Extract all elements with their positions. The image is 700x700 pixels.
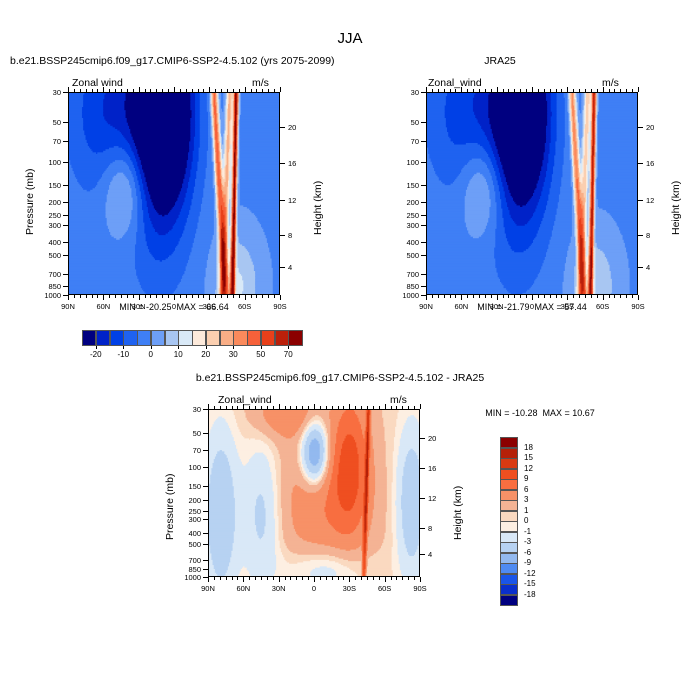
- pressure-tick-label-1000: 1000: [28, 291, 61, 300]
- colorbar-diff-segment-7: [500, 511, 518, 522]
- latitude-tick-mark-top: [133, 89, 134, 92]
- latitude-tick-label-60S: 60S: [369, 584, 401, 593]
- pressure-tick-label-250: 250: [168, 507, 201, 516]
- latitude-tick-label-90S: 90S: [264, 302, 296, 311]
- latitude-tick-mark-top: [561, 89, 562, 92]
- colorbar-diff-segment-0: [500, 437, 518, 448]
- colorbar-main-tick: [96, 346, 97, 349]
- latitude-tick-mark-top: [209, 87, 210, 92]
- latitude-tick-mark: [579, 295, 580, 298]
- height-tick-mark: [638, 163, 643, 164]
- pressure-tick-mark: [63, 286, 68, 287]
- latitude-tick-mark: [233, 295, 234, 298]
- latitude-tick-mark: [268, 295, 269, 298]
- pressure-tick-mark: [203, 569, 208, 570]
- pressure-tick-mark: [421, 215, 426, 216]
- pressure-tick-label-150: 150: [386, 181, 419, 190]
- latitude-tick-mark-top: [385, 404, 386, 409]
- latitude-tick-mark: [314, 577, 315, 582]
- colorbar-main-tick: [178, 346, 179, 349]
- latitude-tick-mark-top: [279, 404, 280, 409]
- pressure-tick-mark: [421, 274, 426, 275]
- pressure-tick-label-100: 100: [168, 463, 201, 472]
- pressure-tick-mark: [63, 255, 68, 256]
- pressure-tick-mark: [421, 141, 426, 142]
- latitude-tick-mark: [408, 577, 409, 580]
- colorbar-diff-segment-8: [500, 521, 518, 532]
- latitude-tick-mark-top: [180, 89, 181, 92]
- latitude-tick-mark: [251, 295, 252, 298]
- latitude-tick-mark-top: [520, 89, 521, 92]
- latitude-tick-mark-top: [556, 89, 557, 92]
- latitude-tick-mark-top: [550, 89, 551, 92]
- latitude-tick-mark: [308, 577, 309, 580]
- latitude-tick-mark: [115, 295, 116, 298]
- pressure-tick-label-400: 400: [168, 529, 201, 538]
- latitude-tick-label-30N: 30N: [263, 584, 295, 593]
- latitude-tick-mark: [556, 295, 557, 298]
- latitude-tick-mark: [174, 295, 175, 300]
- pressure-tick-mark: [203, 433, 208, 434]
- latitude-tick-mark-top: [467, 89, 468, 92]
- latitude-tick-mark: [385, 577, 386, 582]
- latitude-tick-mark-top: [367, 406, 368, 409]
- latitude-tick-mark-top: [274, 89, 275, 92]
- colorbar-diff-segment-15: [500, 595, 518, 606]
- latitude-tick-mark-top: [432, 89, 433, 92]
- latitude-tick-mark: [538, 295, 539, 298]
- latitude-tick-mark: [438, 295, 439, 298]
- latitude-tick-mark-top: [585, 89, 586, 92]
- latitude-tick-mark-top: [198, 89, 199, 92]
- colorbar-main-tick: [288, 346, 289, 349]
- latitude-tick-mark-top: [620, 89, 621, 92]
- height-tick-mark: [420, 528, 425, 529]
- latitude-tick-mark-top: [473, 89, 474, 92]
- pressure-tick-label-500: 500: [168, 540, 201, 549]
- colorbar-diff-label-neg12: -12: [524, 569, 550, 578]
- latitude-tick-mark: [68, 295, 69, 300]
- height-tick-mark: [280, 163, 285, 164]
- latitude-tick-mark: [296, 577, 297, 580]
- latitude-tick-mark: [550, 295, 551, 298]
- colorbar-diff[interactable]: 18151296310-1-3-6-9-12-15-18: [500, 437, 560, 605]
- colorbar-diff-label-neg18: -18: [524, 590, 550, 599]
- latitude-tick-mark-top: [255, 406, 256, 409]
- latitude-tick-mark: [97, 295, 98, 298]
- latitude-tick-mark: [614, 295, 615, 298]
- latitude-tick-mark-top: [186, 89, 187, 92]
- latitude-tick-mark-top: [438, 89, 439, 92]
- pressure-tick-label-700: 700: [386, 270, 419, 279]
- pressure-tick-label-500: 500: [386, 251, 419, 260]
- latitude-tick-mark-top: [343, 406, 344, 409]
- latitude-tick-mark: [290, 577, 291, 580]
- colorbar-diff-segment-1: [500, 448, 518, 459]
- latitude-tick-mark: [226, 577, 227, 580]
- latitude-tick-label-30S: 30S: [551, 302, 583, 311]
- pressure-tick-mark: [63, 122, 68, 123]
- latitude-tick-mark-top: [92, 89, 93, 92]
- latitude-tick-mark: [497, 295, 498, 300]
- pressure-tick-mark: [203, 450, 208, 451]
- height-tick-label-4: 4: [646, 263, 670, 272]
- latitude-tick-mark: [355, 577, 356, 580]
- colorbar-main-segment-14: [275, 330, 289, 346]
- colorbar-diff-segment-5: [500, 490, 518, 501]
- pressure-tick-label-50: 50: [168, 429, 201, 438]
- latitude-tick-mark: [444, 295, 445, 298]
- panel-obs-title: JRA25: [350, 55, 650, 67]
- latitude-tick-mark: [326, 577, 327, 580]
- colorbar-main-segment-12: [247, 330, 261, 346]
- pressure-tick-mark: [203, 560, 208, 561]
- latitude-tick-mark: [338, 577, 339, 580]
- height-tick-label-4: 4: [428, 550, 452, 559]
- latitude-tick-mark: [273, 577, 274, 580]
- latitude-tick-mark: [503, 295, 504, 298]
- latitude-tick-mark-top: [320, 406, 321, 409]
- latitude-tick-mark-top: [355, 406, 356, 409]
- latitude-tick-label-60N: 60N: [227, 584, 259, 593]
- latitude-tick-mark-top: [396, 406, 397, 409]
- latitude-tick-label-30S: 30S: [193, 302, 225, 311]
- panel-obs-variable-label: Zonal_wind: [428, 77, 482, 89]
- panel-model-plot-area[interactable]: [68, 92, 280, 295]
- latitude-tick-mark-top: [245, 87, 246, 92]
- colorbar-main-tick: [261, 346, 262, 349]
- latitude-tick-mark-top: [139, 87, 140, 92]
- latitude-tick-mark: [514, 295, 515, 298]
- latitude-tick-mark-top: [308, 406, 309, 409]
- latitude-tick-mark-top: [402, 406, 403, 409]
- latitude-tick-mark: [203, 295, 204, 298]
- latitude-tick-mark: [162, 295, 163, 298]
- panel-obs-plot-area[interactable]: [426, 92, 638, 295]
- height-tick-label-12: 12: [288, 196, 312, 205]
- latitude-tick-mark-top: [538, 89, 539, 92]
- panel-model-variable-label: Zonal wind: [72, 77, 123, 89]
- height-tick-label-20: 20: [288, 123, 312, 132]
- panel-model-y2axis-label: Height (km): [312, 181, 324, 235]
- colorbar-diff-segment-11: [500, 553, 518, 564]
- colorbar-main-segment-15: [288, 330, 302, 346]
- colorbar-main-tick: [151, 346, 152, 349]
- latitude-tick-mark: [92, 295, 93, 298]
- latitude-tick-mark-top: [280, 87, 281, 92]
- latitude-tick-mark: [343, 577, 344, 580]
- height-tick-mark: [420, 438, 425, 439]
- latitude-tick-mark: [373, 577, 374, 580]
- latitude-tick-mark-top: [332, 406, 333, 409]
- latitude-tick-mark: [208, 577, 209, 582]
- latitude-tick-mark: [232, 577, 233, 580]
- latitude-tick-mark: [367, 577, 368, 580]
- colorbar-main-segment-8: [192, 330, 206, 346]
- latitude-tick-mark: [420, 577, 421, 582]
- latitude-tick-mark-top: [391, 406, 392, 409]
- colorbar-diff-label-6: 6: [524, 485, 550, 494]
- pressure-tick-label-850: 850: [28, 282, 61, 291]
- latitude-tick-mark: [426, 295, 427, 300]
- colorbar-diff-label-neg3: -3: [524, 537, 550, 546]
- pressure-tick-label-1000: 1000: [168, 573, 201, 582]
- pressure-tick-label-30: 30: [28, 88, 61, 97]
- pressure-tick-mark: [203, 486, 208, 487]
- colorbar-main-segment-3: [123, 330, 137, 346]
- diff-contour-field: [209, 410, 420, 577]
- colorbar-diff-label-neg9: -9: [524, 558, 550, 567]
- colorbar-main-segment-1: [96, 330, 110, 346]
- panel-obs-units-label: m/s: [602, 77, 619, 89]
- pressure-tick-mark: [421, 92, 426, 93]
- latitude-tick-mark: [396, 577, 397, 580]
- latitude-tick-mark-top: [203, 89, 204, 92]
- latitude-tick-mark-top: [221, 89, 222, 92]
- latitude-tick-mark-top: [97, 89, 98, 92]
- colorbar-main-segment-10: [220, 330, 234, 346]
- pressure-tick-label-100: 100: [28, 158, 61, 167]
- pressure-tick-mark: [63, 274, 68, 275]
- latitude-tick-mark: [450, 295, 451, 298]
- colorbar-diff-segment-6: [500, 500, 518, 511]
- pressure-tick-label-30: 30: [386, 88, 419, 97]
- latitude-tick-mark-top: [251, 89, 252, 92]
- latitude-tick-mark-top: [103, 87, 104, 92]
- colorbar-main-segment-6: [165, 330, 179, 346]
- panel-obs: JRA25 Zonal_wind m/s Height (km) MIN = -…: [350, 50, 700, 330]
- latitude-tick-mark-top: [145, 89, 146, 92]
- latitude-tick-mark: [214, 577, 215, 580]
- latitude-tick-mark-top: [220, 406, 221, 409]
- latitude-tick-mark: [591, 295, 592, 298]
- latitude-tick-mark: [432, 295, 433, 298]
- panel-diff-plot-area[interactable]: [208, 409, 420, 577]
- colorbar-main-segment-7: [178, 330, 192, 346]
- height-tick-mark: [280, 200, 285, 201]
- pressure-tick-mark: [63, 162, 68, 163]
- pressure-tick-mark: [421, 225, 426, 226]
- latitude-tick-mark-top: [591, 89, 592, 92]
- pressure-tick-label-70: 70: [386, 137, 419, 146]
- colorbar-diff-label-15: 15: [524, 453, 550, 462]
- height-tick-label-8: 8: [288, 231, 312, 240]
- latitude-tick-mark: [186, 295, 187, 298]
- latitude-tick-mark: [86, 295, 87, 298]
- panel-model: b.e21.BSSP245cmip6.f09_g17.CMIP6-SSP2-4.…: [0, 50, 350, 330]
- latitude-tick-mark-top: [261, 406, 262, 409]
- latitude-tick-mark-top: [227, 89, 228, 92]
- latitude-tick-mark: [245, 295, 246, 300]
- latitude-tick-mark-top: [215, 89, 216, 92]
- pressure-tick-mark: [421, 185, 426, 186]
- pressure-tick-label-250: 250: [386, 211, 419, 220]
- latitude-tick-mark-top: [168, 89, 169, 92]
- latitude-tick-mark: [262, 295, 263, 298]
- latitude-tick-mark: [280, 295, 281, 300]
- colorbar-main-label--10: -10: [108, 350, 138, 359]
- latitude-tick-label-0: 0: [516, 302, 548, 311]
- latitude-tick-mark-top: [579, 89, 580, 92]
- latitude-tick-mark: [109, 295, 110, 298]
- latitude-tick-mark: [349, 577, 350, 582]
- latitude-tick-mark-top: [326, 406, 327, 409]
- latitude-tick-mark: [80, 295, 81, 298]
- latitude-tick-mark: [573, 295, 574, 298]
- pressure-tick-mark: [63, 242, 68, 243]
- colorbar-main-label--20: -20: [81, 350, 111, 359]
- pressure-tick-label-500: 500: [28, 251, 61, 260]
- panel-diff-title: b.e21.BSSP245cmip6.f09_g17.CMIP6-SSP2-4.…: [140, 372, 540, 384]
- colorbar-diff-segment-3: [500, 469, 518, 480]
- colorbar-main-segment-5: [151, 330, 165, 346]
- panel-diff-variable-label: Zonal_wind: [218, 394, 272, 406]
- colorbar-diff-segment-13: [500, 574, 518, 585]
- latitude-tick-mark-top: [302, 406, 303, 409]
- latitude-tick-mark: [609, 295, 610, 298]
- colorbar-diff-label-neg1: -1: [524, 527, 550, 536]
- height-tick-label-8: 8: [646, 231, 670, 240]
- latitude-tick-mark-top: [479, 89, 480, 92]
- latitude-tick-mark-top: [232, 406, 233, 409]
- panel-diff-y2axis-label: Height (km): [452, 486, 464, 540]
- latitude-tick-mark: [243, 577, 244, 582]
- panel-diff: b.e21.BSSP245cmip6.f09_g17.CMIP6-SSP2-4.…: [140, 372, 560, 632]
- latitude-tick-mark: [461, 295, 462, 300]
- latitude-tick-label-30N: 30N: [123, 302, 155, 311]
- latitude-tick-mark: [221, 295, 222, 298]
- panel-diff-units-label: m/s: [390, 394, 407, 406]
- latitude-tick-mark: [361, 577, 362, 580]
- latitude-tick-label-60S: 60S: [587, 302, 619, 311]
- latitude-tick-mark: [249, 577, 250, 580]
- latitude-tick-mark: [455, 295, 456, 298]
- colorbar-diff-segment-9: [500, 532, 518, 543]
- colorbar-diff-segment-4: [500, 479, 518, 490]
- latitude-tick-mark-top: [273, 406, 274, 409]
- latitude-tick-mark-top: [115, 89, 116, 92]
- pressure-tick-label-400: 400: [386, 238, 419, 247]
- latitude-tick-mark: [215, 295, 216, 298]
- latitude-tick-mark-top: [450, 89, 451, 92]
- latitude-tick-mark-top: [573, 89, 574, 92]
- height-tick-label-16: 16: [646, 159, 670, 168]
- height-tick-mark: [638, 200, 643, 201]
- latitude-tick-mark: [626, 295, 627, 298]
- latitude-tick-mark: [603, 295, 604, 300]
- latitude-tick-mark-top: [192, 89, 193, 92]
- panel-obs-y2axis-label: Height (km): [670, 181, 682, 235]
- colorbar-main-segment-2: [110, 330, 124, 346]
- pressure-tick-label-50: 50: [28, 118, 61, 127]
- pressure-tick-mark: [63, 215, 68, 216]
- colorbar-diff-label-0: 0: [524, 516, 550, 525]
- height-tick-label-20: 20: [646, 123, 670, 132]
- latitude-tick-mark-top: [80, 89, 81, 92]
- height-tick-label-20: 20: [428, 434, 452, 443]
- pressure-tick-mark: [421, 286, 426, 287]
- latitude-tick-mark: [508, 295, 509, 298]
- latitude-tick-mark-top: [444, 89, 445, 92]
- pressure-tick-label-300: 300: [168, 515, 201, 524]
- colorbar-diff-label-neg6: -6: [524, 548, 550, 557]
- pressure-tick-mark: [421, 242, 426, 243]
- pressure-tick-label-300: 300: [28, 221, 61, 230]
- latitude-tick-mark-top: [408, 406, 409, 409]
- panel-diff-min-text: MIN = -10.28: [485, 408, 537, 418]
- pressure-tick-mark: [421, 122, 426, 123]
- height-tick-mark: [280, 267, 285, 268]
- latitude-tick-mark-top: [239, 89, 240, 92]
- latitude-tick-mark: [520, 295, 521, 298]
- latitude-tick-mark: [74, 295, 75, 298]
- latitude-tick-mark-top: [567, 87, 568, 92]
- latitude-tick-mark-top: [68, 87, 69, 92]
- latitude-tick-mark: [479, 295, 480, 298]
- latitude-tick-mark-top: [597, 89, 598, 92]
- latitude-tick-mark: [103, 295, 104, 300]
- latitude-tick-mark-top: [461, 87, 462, 92]
- latitude-tick-label-90N: 90N: [410, 302, 442, 311]
- panel-diff-max-text: MAX = 10.67: [543, 408, 595, 418]
- latitude-tick-mark-top: [503, 89, 504, 92]
- pressure-tick-label-100: 100: [386, 158, 419, 167]
- panel-model-title: b.e21.BSSP245cmip6.f09_g17.CMIP6-SSP2-4.…: [10, 55, 335, 67]
- colorbar-main-segment-11: [233, 330, 247, 346]
- colorbar-diff-label-12: 12: [524, 464, 550, 473]
- latitude-tick-mark-top: [208, 404, 209, 409]
- colorbar-main[interactable]: -20-1001020305070: [82, 330, 302, 360]
- latitude-tick-label-0: 0: [298, 584, 330, 593]
- latitude-tick-mark-top: [497, 87, 498, 92]
- latitude-tick-mark-top: [256, 89, 257, 92]
- model-contour-field: [69, 93, 280, 295]
- colorbar-diff-label-neg15: -15: [524, 579, 550, 588]
- height-tick-mark: [420, 554, 425, 555]
- latitude-tick-mark: [168, 295, 169, 298]
- pressure-tick-label-400: 400: [28, 238, 61, 247]
- latitude-tick-label-30N: 30N: [481, 302, 513, 311]
- latitude-tick-mark-top: [267, 406, 268, 409]
- latitude-tick-mark: [402, 577, 403, 580]
- pressure-tick-label-200: 200: [168, 496, 201, 505]
- latitude-tick-mark-top: [86, 89, 87, 92]
- latitude-tick-label-90S: 90S: [622, 302, 654, 311]
- latitude-tick-mark-top: [420, 404, 421, 409]
- height-tick-label-8: 8: [428, 524, 452, 533]
- latitude-tick-mark: [127, 295, 128, 298]
- pressure-tick-label-850: 850: [386, 282, 419, 291]
- latitude-tick-mark: [491, 295, 492, 298]
- latitude-tick-mark-top: [508, 89, 509, 92]
- colorbar-main-tick: [123, 346, 124, 349]
- latitude-tick-mark: [267, 577, 268, 580]
- obs-contour-field: [427, 93, 638, 295]
- latitude-tick-mark: [544, 295, 545, 298]
- latitude-tick-mark-top: [485, 89, 486, 92]
- latitude-tick-mark: [239, 295, 240, 298]
- latitude-tick-mark-top: [626, 89, 627, 92]
- pressure-tick-mark: [63, 141, 68, 142]
- latitude-tick-mark: [255, 577, 256, 580]
- pressure-tick-mark: [203, 409, 208, 410]
- pressure-tick-mark: [203, 500, 208, 501]
- pressure-tick-mark: [421, 255, 426, 256]
- pressure-tick-mark: [63, 92, 68, 93]
- height-tick-mark: [280, 235, 285, 236]
- pressure-tick-label-700: 700: [168, 556, 201, 565]
- latitude-tick-mark: [379, 577, 380, 580]
